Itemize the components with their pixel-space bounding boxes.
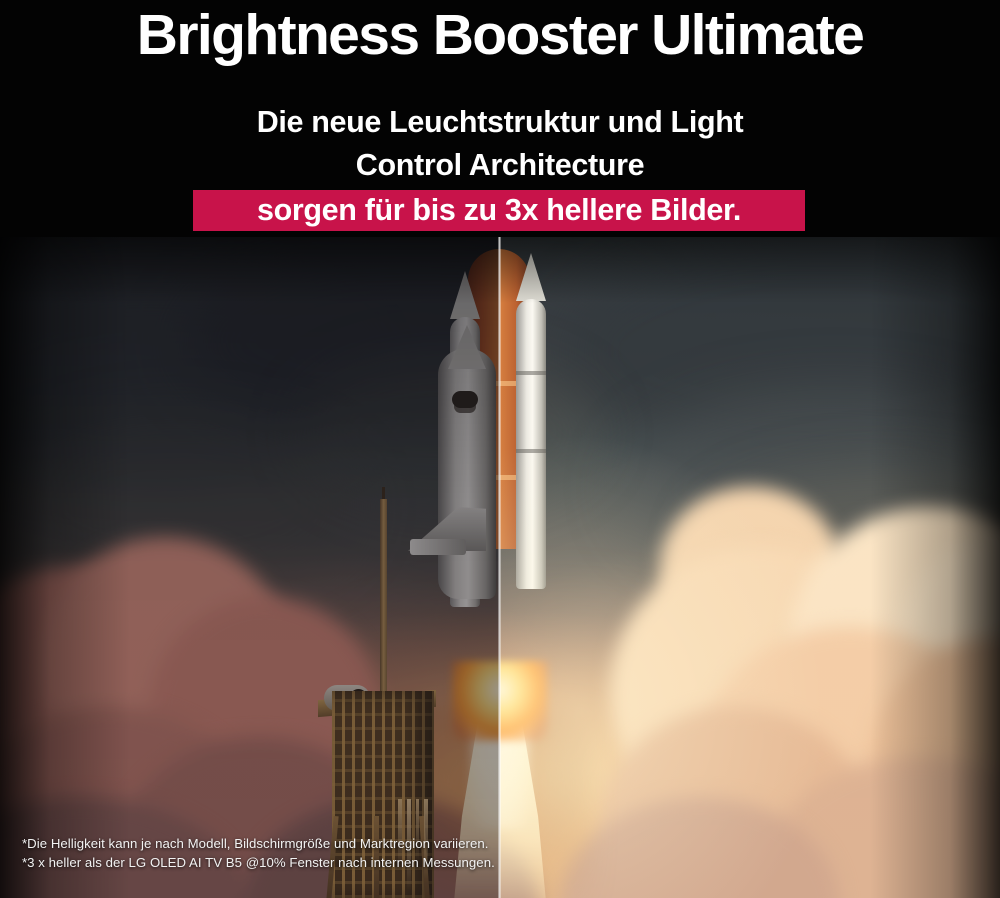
left-half-haze bbox=[0, 237, 500, 898]
image-half-boosted-brightness bbox=[500, 237, 1000, 898]
image-half-standard-brightness bbox=[0, 237, 500, 898]
subtitle-line-1: Die neue Leuchtstruktur und Light bbox=[0, 101, 1000, 144]
footnote-line-2: *3 x heller als der LG OLED AI TV B5 @10… bbox=[22, 854, 495, 873]
footnotes: *Die Helligkeit kann je nach Modell, Bil… bbox=[22, 835, 495, 872]
split-divider bbox=[498, 237, 501, 898]
footnote-line-1: *Die Helligkeit kann je nach Modell, Bil… bbox=[22, 835, 495, 854]
highlight-badge: sorgen für bis zu 3x hellere Bilder. bbox=[193, 190, 805, 231]
brightness-booster-banner: Brightness Booster Ultimate Die neue Leu… bbox=[0, 0, 1000, 898]
right-half-highlight-bloom bbox=[500, 237, 1000, 898]
subtitle-line-2: Control Architecture bbox=[0, 144, 1000, 187]
page-title: Brightness Booster Ultimate bbox=[0, 2, 1000, 68]
hero-image bbox=[0, 237, 1000, 898]
subtitle: Die neue Leuchtstruktur und Light Contro… bbox=[0, 101, 1000, 187]
headline-block: Brightness Booster Ultimate Die neue Leu… bbox=[0, 0, 1000, 237]
